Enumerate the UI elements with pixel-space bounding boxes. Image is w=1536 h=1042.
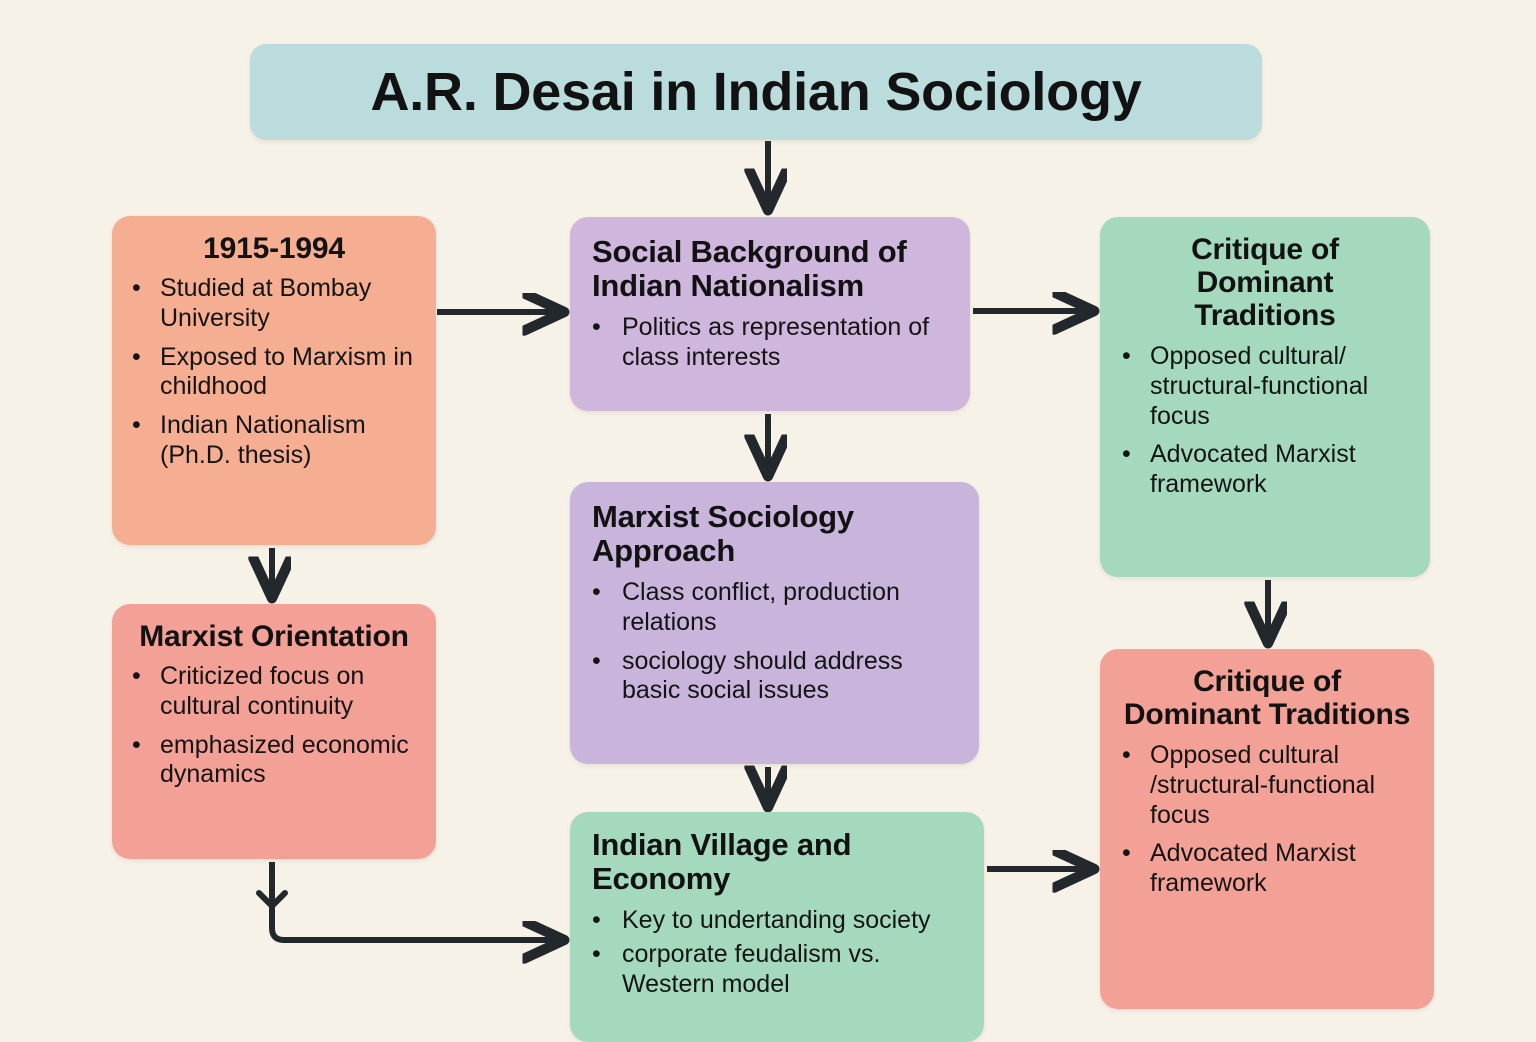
list-item-label: Opposed cultural/ structural-functional … bbox=[1150, 342, 1408, 431]
node-social-background[interactable]: Social Background of Indian Nationalism … bbox=[570, 217, 970, 411]
list-item-label: corporate feudalism vs. Western model bbox=[622, 940, 962, 1000]
node-critique-dominant-traditions-green[interactable]: Critique of Dominant Traditions • Oppose… bbox=[1100, 217, 1430, 577]
bullet-icon: • bbox=[1122, 342, 1131, 372]
bullet-icon: • bbox=[132, 662, 141, 692]
bullet-icon: • bbox=[592, 647, 601, 677]
node-marxist-sociology-approach[interactable]: Marxist Sociology Approach • Class confl… bbox=[570, 482, 979, 764]
list-item-label: Class conflict, production relations bbox=[622, 578, 957, 638]
list-item: • Advocated Marxist framework bbox=[1122, 839, 1412, 899]
edge-marxorient-midpoint-arrowhead bbox=[259, 893, 285, 906]
node-title: Critique of Dominant Traditions bbox=[1122, 233, 1408, 332]
list-item-label: sociology should address basic social is… bbox=[622, 647, 957, 707]
list-item-label: Indian Nationalism (Ph.D. thesis) bbox=[160, 411, 416, 471]
bullet-icon: • bbox=[132, 731, 141, 761]
edge-marxorient-to-village bbox=[272, 862, 562, 940]
node-bullet-list: • Opposed cultural/ structural-functiona… bbox=[1122, 342, 1408, 500]
list-item-label: Opposed cultural /structural-functional … bbox=[1150, 741, 1412, 830]
list-item-label: Criticized focus on cultural continuity bbox=[160, 662, 416, 722]
bullet-icon: • bbox=[132, 274, 141, 304]
list-item-label: Advocated Marxist framework bbox=[1150, 440, 1408, 500]
list-item-label: emphasized economic dynamics bbox=[160, 731, 416, 791]
list-item-label: Studied at Bombay University bbox=[160, 274, 416, 334]
list-item: • Studied at Bombay University bbox=[132, 274, 416, 334]
list-item: • Indian Nationalism (Ph.D. thesis) bbox=[132, 411, 416, 471]
diagram-title-banner: A.R. Desai in Indian Sociology bbox=[250, 44, 1262, 140]
node-title: Social Background of Indian Nationalism bbox=[592, 235, 948, 303]
list-item: • sociology should address basic social … bbox=[592, 647, 957, 707]
list-item-label: Key to undertanding society bbox=[622, 906, 962, 936]
node-bullet-list: • Class conflict, production relations •… bbox=[592, 578, 957, 706]
list-item: • Exposed to Marxism in childhood bbox=[132, 343, 416, 403]
bullet-icon: • bbox=[132, 343, 141, 373]
node-bullet-list: • Politics as representation of class in… bbox=[592, 313, 948, 373]
node-title: Indian Village and Economy bbox=[592, 828, 962, 896]
list-item: • Opposed cultural/ structural-functiona… bbox=[1122, 342, 1408, 431]
node-title: 1915-1994 bbox=[132, 232, 416, 265]
list-item: • corporate feudalism vs. Western model bbox=[592, 940, 962, 1000]
list-item-label: Politics as representation of class inte… bbox=[622, 313, 948, 373]
list-item-label: Exposed to Marxism in childhood bbox=[160, 343, 416, 403]
bullet-icon: • bbox=[592, 906, 601, 936]
list-item: • Key to undertanding society bbox=[592, 906, 962, 936]
bullet-icon: • bbox=[592, 940, 601, 970]
node-bullet-list: • Criticized focus on cultural continuit… bbox=[132, 662, 416, 790]
bullet-icon: • bbox=[1122, 741, 1131, 771]
node-marxist-orientation[interactable]: Marxist Orientation • Criticized focus o… bbox=[112, 604, 436, 859]
list-item: • Criticized focus on cultural continuit… bbox=[132, 662, 416, 722]
page-title: A.R. Desai in Indian Sociology bbox=[370, 65, 1141, 119]
list-item: • Politics as representation of class in… bbox=[592, 313, 948, 373]
bullet-icon: • bbox=[1122, 440, 1131, 470]
node-bullet-list: • Studied at Bombay University • Exposed… bbox=[132, 274, 416, 471]
list-item: • Class conflict, production relations bbox=[592, 578, 957, 638]
node-critique-dominant-traditions-pink[interactable]: Critique of Dominant Traditions • Oppose… bbox=[1100, 649, 1434, 1009]
node-bullet-list: • Key to undertanding society • corporat… bbox=[592, 906, 962, 999]
node-indian-village-and-economy[interactable]: Indian Village and Economy • Key to unde… bbox=[570, 812, 984, 1042]
node-title: Marxist Sociology Approach bbox=[592, 500, 957, 568]
list-item: • Opposed cultural /structural-functiona… bbox=[1122, 741, 1412, 830]
list-item: • emphasized economic dynamics bbox=[132, 731, 416, 791]
diagram-canvas: A.R. Desai in Indian Sociology 1915-1994… bbox=[0, 0, 1536, 1024]
bullet-icon: • bbox=[1122, 839, 1131, 869]
bullet-icon: • bbox=[132, 411, 141, 441]
bullet-icon: • bbox=[592, 313, 601, 343]
node-title: Marxist Orientation bbox=[132, 620, 416, 653]
list-item: • Advocated Marxist framework bbox=[1122, 440, 1408, 500]
node-bullet-list: • Opposed cultural /structural-functiona… bbox=[1122, 741, 1412, 899]
list-item-label: Advocated Marxist framework bbox=[1150, 839, 1412, 899]
node-title: Critique of Dominant Traditions bbox=[1122, 665, 1412, 731]
node-biography[interactable]: 1915-1994 • Studied at Bombay University… bbox=[112, 216, 436, 545]
bullet-icon: • bbox=[592, 578, 601, 608]
